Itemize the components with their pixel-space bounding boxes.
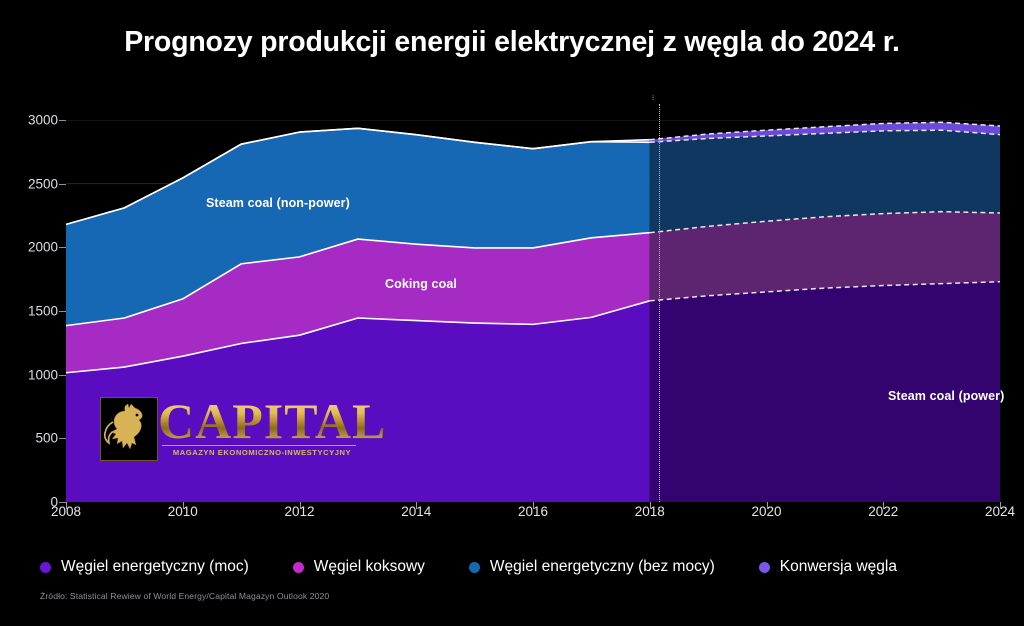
y-axis-label: 2500 — [28, 176, 58, 191]
x-axis-tick — [183, 502, 184, 509]
legend-label: Węgiel energetyczny (bez mocy) — [490, 558, 715, 576]
logo-wordmark: CAPITAL — [158, 391, 386, 451]
x-axis-tick — [883, 502, 884, 509]
legend-color-swatch-icon — [759, 562, 770, 573]
y-axis-label: 1500 — [28, 304, 58, 319]
y-axis-tick — [59, 375, 66, 376]
forecast-divider-cap: ⁝ — [652, 96, 654, 101]
lion-rampant-icon — [100, 397, 158, 461]
legend-color-swatch-icon — [469, 562, 480, 573]
y-axis-tick — [59, 438, 66, 439]
legend-label: Konwersja węgla — [780, 558, 897, 576]
y-axis-tick — [59, 247, 66, 248]
y-axis: 050010001500200025003000 — [0, 120, 58, 502]
legend-item[interactable]: Konwersja węgla — [759, 558, 897, 576]
x-axis: 200820102012201420162018202020222024 — [0, 504, 1024, 530]
legend-color-swatch-icon — [40, 562, 51, 573]
y-axis-label: 1000 — [28, 367, 58, 382]
source-note: Źródło: Statistical Rewiew of World Ener… — [40, 591, 329, 601]
area-series-label: Steam coal (power) — [888, 389, 1004, 403]
legend-label: Węgiel koksowy — [314, 558, 425, 576]
legend-item[interactable]: Węgiel energetyczny (bez mocy) — [469, 558, 715, 576]
area-series-label: Coking coal — [385, 277, 457, 291]
legend-item[interactable]: Węgiel energetyczny (moc) — [40, 558, 249, 576]
chart-legend: Węgiel energetyczny (moc)Węgiel koksowyW… — [40, 558, 941, 576]
x-axis-tick — [300, 502, 301, 509]
x-axis-tick — [767, 502, 768, 509]
x-axis-tick — [416, 502, 417, 509]
y-axis-label: 2000 — [28, 240, 58, 255]
y-axis-tick — [59, 184, 66, 185]
page-title: Prognozy produkcji energii elektrycznej … — [0, 26, 1024, 59]
legend-color-swatch-icon — [293, 562, 304, 573]
forecast-divider-line — [659, 104, 660, 502]
y-axis-tick — [59, 311, 66, 312]
logo-tagline: MAGAZYN EKONOMICZNO-INWESTYCYJNY — [164, 448, 360, 457]
chart-page: Prognozy produkcji energii elektrycznej … — [0, 0, 1024, 626]
x-axis-tick — [650, 502, 651, 509]
legend-label: Węgiel energetyczny (moc) — [61, 558, 249, 576]
logo-divider-rule — [162, 445, 356, 446]
y-axis-tick — [59, 502, 66, 503]
y-axis-label: 3000 — [28, 113, 58, 128]
area-series-label: Steam coal (non-power) — [206, 196, 350, 210]
x-axis-tick — [1000, 502, 1001, 509]
x-axis-tick — [533, 502, 534, 509]
x-axis-tick — [66, 502, 67, 509]
legend-item[interactable]: Węgiel koksowy — [293, 558, 425, 576]
y-axis-tick — [59, 120, 66, 121]
capital-logo-watermark: CAPITAL MAGAZYN EKONOMICZNO-INWESTYCYJNY — [100, 393, 358, 465]
y-axis-label: 500 — [35, 431, 58, 446]
